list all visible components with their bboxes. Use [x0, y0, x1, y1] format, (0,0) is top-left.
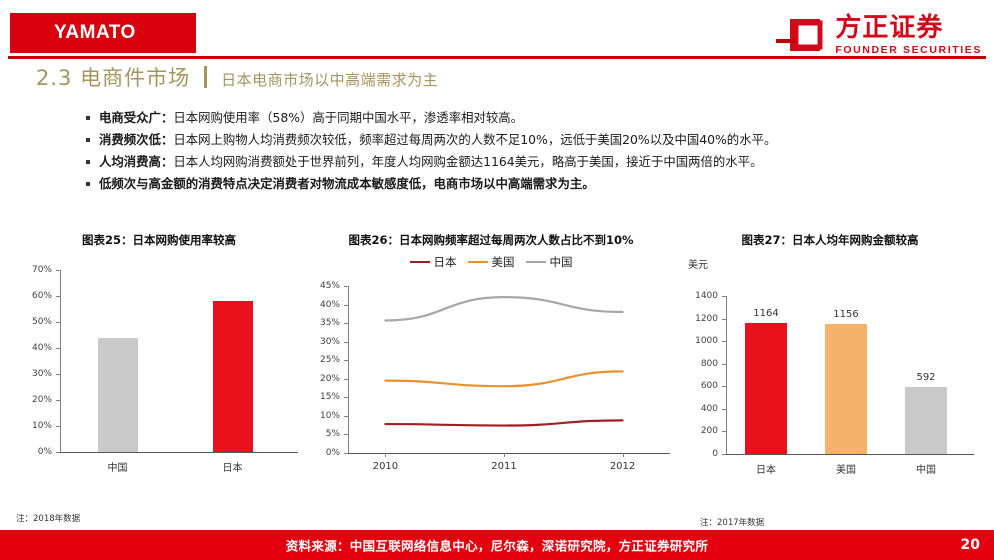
- y-axis-tick-label: 60%: [14, 291, 52, 301]
- y-axis-tick: [722, 409, 726, 410]
- chart-plot-26: 0%5%10%15%20%25%30%35%40%45%201020112012: [306, 280, 676, 485]
- y-axis-tick-label: 30%: [14, 369, 52, 379]
- list-item: 电商受众广：日本网购使用率（58%）高于同期中国水平，渗透率相对较高。: [86, 110, 966, 126]
- yamato-badge-label: YAMATO: [54, 22, 136, 44]
- y-axis-tick: [722, 454, 726, 455]
- list-item: 低频次与高金额的消费特点决定消费者对物流成本敏感度低，电商市场以中高端需求为主。: [86, 176, 966, 192]
- y-axis-tick-label: 20%: [14, 395, 52, 405]
- legend-item-日本: 日本: [410, 254, 457, 270]
- footer-source-text: 资料来源：中国互联网络信息中心，尼尔森，深诺研究院，方正证券研究所: [0, 536, 994, 555]
- slide-root: YAMATO 方正证券 FOUNDER SECURITIES 2.3 电商件市场…: [0, 0, 994, 560]
- legend-swatch-icon: [468, 261, 488, 264]
- y-axis-tick-label: 10%: [14, 421, 52, 431]
- list-item: 人均消费高：日本人均网购消费额处于世界前列，年度人均网购金额达1164美元，略高…: [86, 154, 966, 170]
- bullet-square-icon: [86, 182, 90, 186]
- y-axis-tick: [56, 426, 60, 427]
- bullet-body: 人均消费高：日本人均网购消费额处于世界前列，年度人均网购金额达1164美元，略高…: [99, 154, 762, 170]
- chart-plot-27: 02004006008001000120014001164日本1156美国592…: [680, 274, 980, 484]
- brand-text-block: 方正证券 FOUNDER SECURITIES: [835, 15, 982, 56]
- section-number-title: 2.3 电商件市场: [36, 62, 190, 92]
- legend-label: 中国: [550, 254, 573, 270]
- chart-title-27: 图表27：日本人均年网购金额较高: [680, 232, 980, 248]
- page-number: 20: [961, 537, 980, 553]
- section-subtitle: 日本电商市场以中高端需求为主: [221, 69, 438, 90]
- legend-label: 美国: [492, 254, 515, 270]
- bullet-list: 电商受众广：日本网购使用率（58%）高于同期中国水平，渗透率相对较高。 消费频次…: [86, 110, 966, 198]
- y-axis-tick-label: 1400: [680, 291, 718, 301]
- line-日本: [385, 420, 622, 425]
- y-axis-tick: [722, 364, 726, 365]
- bar-美国: [825, 324, 867, 454]
- y-axis-tick: [722, 319, 726, 320]
- y-axis-line: [726, 296, 727, 454]
- footer-top-rule: [0, 527, 994, 530]
- y-axis-tick-label: 1200: [680, 314, 718, 324]
- y-axis-tick: [56, 270, 60, 271]
- y-axis-tick: [722, 341, 726, 342]
- x-axis-label: 日本: [726, 461, 806, 476]
- x-axis-label: 美国: [806, 461, 886, 476]
- legend-label: 日本: [434, 254, 457, 270]
- section-title: 2.3 电商件市场 日本电商市场以中高端需求为主: [36, 62, 438, 92]
- bullet-text: 日本人均网购消费额处于世界前列，年度人均网购金额达1164美元，略高于美国，接近…: [173, 154, 762, 169]
- y-axis-tick: [722, 386, 726, 387]
- founder-mark-icon: [776, 15, 828, 55]
- bar-日本: [745, 323, 787, 454]
- y-axis-tick-label: 40%: [14, 343, 52, 353]
- bullet-body: 低频次与高金额的消费特点决定消费者对物流成本敏感度低，电商市场以中高端需求为主。: [99, 176, 595, 192]
- y-axis-tick-label: 800: [680, 359, 718, 369]
- y-axis-tick: [56, 452, 60, 453]
- chart-title-25: 图表25：日本网购使用率较高: [14, 232, 304, 248]
- list-item: 消费频次低：日本网上购物人均消费频次较低，频率超过每周两次的人数不足10%，远低…: [86, 132, 966, 148]
- y-axis-tick-label: 50%: [14, 317, 52, 327]
- bullet-lead: 人均消费高：: [99, 154, 173, 169]
- y-axis-tick-label: 400: [680, 404, 718, 414]
- line-中国: [385, 297, 622, 320]
- chart-panel-26: 图表26：日本网购频率超过每周两次人数占比不到10% 日本美国中国 0%5%10…: [306, 232, 676, 512]
- chart-legend-26: 日本美国中国: [306, 254, 676, 270]
- y-axis-tick-label: 0: [680, 449, 718, 459]
- bar-日本: [213, 301, 253, 452]
- y-axis-tick-label: 70%: [14, 265, 52, 275]
- y-axis-tick: [56, 400, 60, 401]
- legend-item-中国: 中国: [526, 254, 573, 270]
- bullet-lead: 消费频次低：: [99, 132, 173, 147]
- bullet-square-icon: [86, 160, 90, 164]
- legend-swatch-icon: [410, 261, 430, 264]
- bullet-text: 日本网购使用率（58%）高于同期中国水平，渗透率相对较高。: [173, 110, 523, 125]
- x-axis-line: [726, 454, 974, 455]
- y-axis-tick-label: 0%: [14, 447, 52, 457]
- section-divider-icon: [204, 66, 207, 88]
- chart-plot-25: 0%10%20%30%40%50%60%70%中国日本: [14, 262, 304, 482]
- bullet-square-icon: [86, 116, 90, 120]
- bar-value-label: 1156: [816, 309, 876, 320]
- x-axis-label: 中国: [886, 461, 966, 476]
- brand-name-cn: 方正证券: [835, 15, 943, 41]
- bullet-lead: 电商受众广：: [99, 110, 173, 125]
- y-axis-tick: [56, 322, 60, 323]
- bullet-square-icon: [86, 138, 90, 142]
- y-axis-line: [60, 270, 61, 452]
- y-axis-tick: [56, 374, 60, 375]
- x-axis-label: 中国: [78, 459, 158, 474]
- bullet-text: 日本网上购物人均消费频次较低，频率超过每周两次的人数不足10%，远低于美国20%…: [173, 132, 776, 147]
- chart-ylabel-27: 美元: [688, 256, 708, 271]
- bar-value-label: 1164: [736, 308, 796, 319]
- y-axis-tick-label: 1000: [680, 336, 718, 346]
- bullet-body: 消费频次低：日本网上购物人均消费频次较低，频率超过每周两次的人数不足10%，远低…: [99, 132, 776, 148]
- brand-logo: 方正证券 FOUNDER SECURITIES: [776, 12, 982, 58]
- x-axis-line: [60, 452, 298, 453]
- footer-bar: 资料来源：中国互联网络信息中心，尼尔森，深诺研究院，方正证券研究所 20: [0, 530, 994, 560]
- legend-swatch-icon: [526, 261, 546, 264]
- chart-panel-25: 图表25：日本网购使用率较高 0%10%20%30%40%50%60%70%中国…: [14, 232, 304, 512]
- y-axis-tick-label: 200: [680, 426, 718, 436]
- bar-value-label: 592: [896, 372, 956, 383]
- line-美国: [385, 371, 622, 386]
- bullet-body: 电商受众广：日本网购使用率（58%）高于同期中国水平，渗透率相对较高。: [99, 110, 523, 126]
- chart-title-26: 图表26：日本网购频率超过每周两次人数占比不到10%: [306, 232, 676, 248]
- chart-note-25: 注：2018年数据: [16, 512, 80, 524]
- y-axis-tick: [722, 431, 726, 432]
- legend-item-美国: 美国: [468, 254, 515, 270]
- y-axis-tick: [722, 296, 726, 297]
- bar-中国: [905, 387, 947, 454]
- y-axis-tick: [56, 296, 60, 297]
- brand-name-en: FOUNDER SECURITIES: [835, 44, 982, 56]
- bullet-text: 低频次与高金额的消费特点决定消费者对物流成本敏感度低，电商市场以中高端需求为主。: [99, 176, 595, 191]
- bar-中国: [98, 338, 138, 452]
- chart-panel-27: 图表27：日本人均年网购金额较高 美元 02004006008001000120…: [680, 232, 980, 512]
- y-axis-tick-label: 600: [680, 381, 718, 391]
- line-series-group: [306, 280, 676, 485]
- x-axis-label: 日本: [193, 459, 273, 474]
- yamato-badge: YAMATO: [10, 13, 196, 53]
- y-axis-tick: [56, 348, 60, 349]
